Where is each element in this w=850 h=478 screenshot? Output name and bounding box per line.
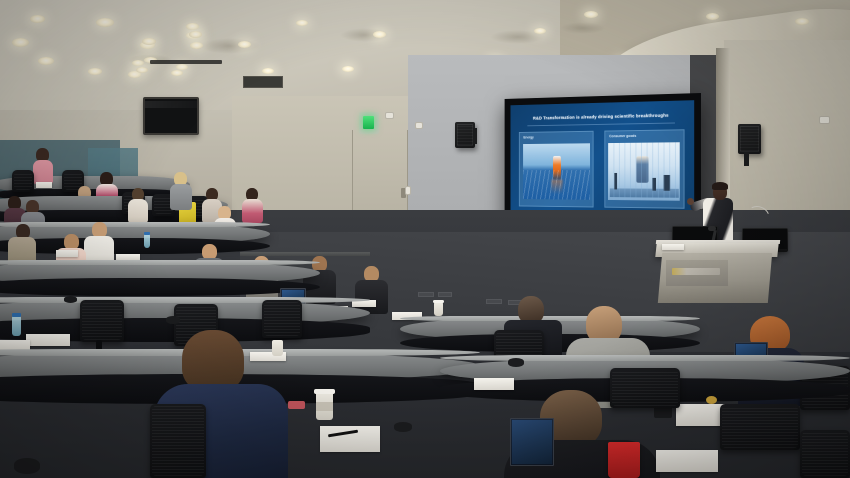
- downlight-icon: [795, 18, 809, 25]
- lab-equipment: [614, 173, 618, 190]
- lab-equipment: [664, 175, 670, 191]
- floor-power-box: [486, 299, 502, 304]
- floor-power-box: [438, 292, 452, 297]
- ceiling-smudge: [560, 22, 605, 34]
- tablet-screen: [512, 420, 552, 464]
- cup-lid: [314, 389, 335, 394]
- desk-power-puck[interactable]: [64, 296, 77, 303]
- notepad: [656, 450, 718, 472]
- water-bottle: [12, 316, 21, 336]
- notepad: [474, 378, 514, 390]
- torso: [33, 160, 53, 184]
- slide-panel-label: Consumer goods: [609, 134, 636, 138]
- notepad: [56, 250, 78, 257]
- tablet[interactable]: [510, 418, 554, 466]
- downlight-icon: [534, 28, 546, 34]
- podium-plate: [672, 268, 720, 275]
- chair[interactable]: [262, 300, 302, 338]
- chair-mesh: [14, 172, 32, 190]
- downlight-icon: [38, 57, 54, 65]
- desk-tier-lip: [0, 297, 370, 303]
- downlight-icon: [186, 23, 199, 30]
- smartphone[interactable]: [288, 401, 305, 409]
- head: [182, 330, 244, 392]
- speaker-mount: [473, 128, 477, 144]
- slide-title: R&D Transformation is already driving sc…: [522, 112, 680, 120]
- desk-power-puck[interactable]: [706, 396, 717, 404]
- slide-image-solar: [523, 144, 590, 200]
- ceiling-smudge: [200, 38, 260, 54]
- downlight-icon: [373, 31, 386, 38]
- chair-mesh: [722, 406, 798, 448]
- chair[interactable]: [800, 430, 850, 478]
- cup-sleeve: [316, 402, 333, 411]
- downlight-icon: [136, 67, 148, 73]
- downlight-icon: [342, 66, 354, 72]
- torso: [242, 199, 263, 223]
- slide-panel-label: Energy: [523, 135, 533, 139]
- bottle-cap: [144, 232, 150, 235]
- bottle-cap: [12, 313, 21, 317]
- slide-divider: [528, 123, 675, 127]
- solar-reflection: [552, 179, 563, 193]
- downlight-icon: [142, 38, 156, 45]
- wall-sensor-icon: [385, 112, 394, 119]
- lab-bench: [610, 188, 679, 198]
- slide-image-lab: [608, 143, 680, 201]
- downlight-icon: [12, 38, 29, 47]
- torso: [170, 184, 192, 210]
- water-bottle: [144, 234, 150, 248]
- chair-mesh: [82, 302, 122, 340]
- solar-technician-figure: [553, 156, 561, 179]
- wall-speaker: [738, 124, 761, 154]
- slide-panel-energy: Energy: [519, 131, 593, 208]
- chair-mesh: [264, 302, 300, 336]
- cup-lid: [433, 300, 444, 303]
- downlight-icon: [584, 11, 598, 18]
- chair-mesh: [802, 432, 848, 476]
- wall-speaker: [455, 122, 475, 148]
- notepad: [26, 334, 70, 346]
- wall-plate-icon: [405, 186, 411, 195]
- coffee-cup: [434, 302, 443, 316]
- microphone-head: [708, 226, 716, 231]
- downlight-icon: [190, 42, 203, 49]
- downlight-icon: [96, 18, 114, 27]
- speaker-mount: [744, 152, 749, 166]
- chair-mesh: [612, 370, 678, 406]
- desk-tier-lip: [440, 355, 850, 361]
- wall-sensor-icon: [819, 116, 830, 124]
- downlight-icon: [706, 13, 719, 20]
- downlight-icon: [88, 68, 102, 75]
- lab-equipment: [652, 178, 656, 191]
- downlight-icon: [296, 20, 308, 26]
- floor-power-box: [418, 292, 434, 297]
- chair: [12, 170, 34, 192]
- notepad: [36, 182, 52, 188]
- downlight-icon: [30, 15, 45, 23]
- chair[interactable]: [720, 404, 800, 450]
- red-tumbler: [608, 442, 640, 478]
- downlight-icon: [262, 68, 274, 74]
- presenter-hair: [712, 182, 728, 190]
- desk-power-puck[interactable]: [166, 316, 180, 324]
- ceiling-vent: [150, 60, 222, 64]
- downlight-icon: [189, 31, 202, 38]
- slide-panel-consumer-goods: Consumer goods: [604, 129, 684, 209]
- exit-sign: [363, 116, 374, 129]
- chair-mesh: [152, 406, 204, 476]
- chair[interactable]: [80, 300, 124, 342]
- notepad: [662, 244, 684, 250]
- screen-glare: [145, 101, 197, 108]
- computer-mouse[interactable]: [14, 458, 40, 474]
- lab-scientist-figure: [637, 157, 648, 183]
- downlight-icon: [238, 41, 251, 48]
- speaker-grill: [457, 124, 473, 146]
- desk-tier-front: [0, 278, 320, 296]
- lecture-hall-photo: R&D Transformation is already driving sc…: [0, 0, 850, 478]
- torso: [128, 199, 148, 223]
- coffee-cup: [272, 340, 283, 356]
- desk-power-puck[interactable]: [394, 422, 412, 432]
- speaker-grill: [740, 126, 759, 152]
- desk-tier-front: [0, 238, 270, 254]
- desk-power-puck[interactable]: [508, 358, 524, 367]
- downlight-icon: [171, 70, 183, 76]
- desk-tier-lip: [0, 260, 320, 265]
- ceiling-vent: [243, 76, 283, 88]
- desk-tier-lip: [0, 222, 270, 227]
- wall-sensor-icon: [415, 122, 423, 129]
- chair[interactable]: [150, 404, 206, 478]
- wall-display-screen[interactable]: [143, 97, 199, 135]
- downlight-icon: [132, 60, 144, 66]
- chair[interactable]: [610, 368, 680, 408]
- presenter-hand: [687, 198, 694, 205]
